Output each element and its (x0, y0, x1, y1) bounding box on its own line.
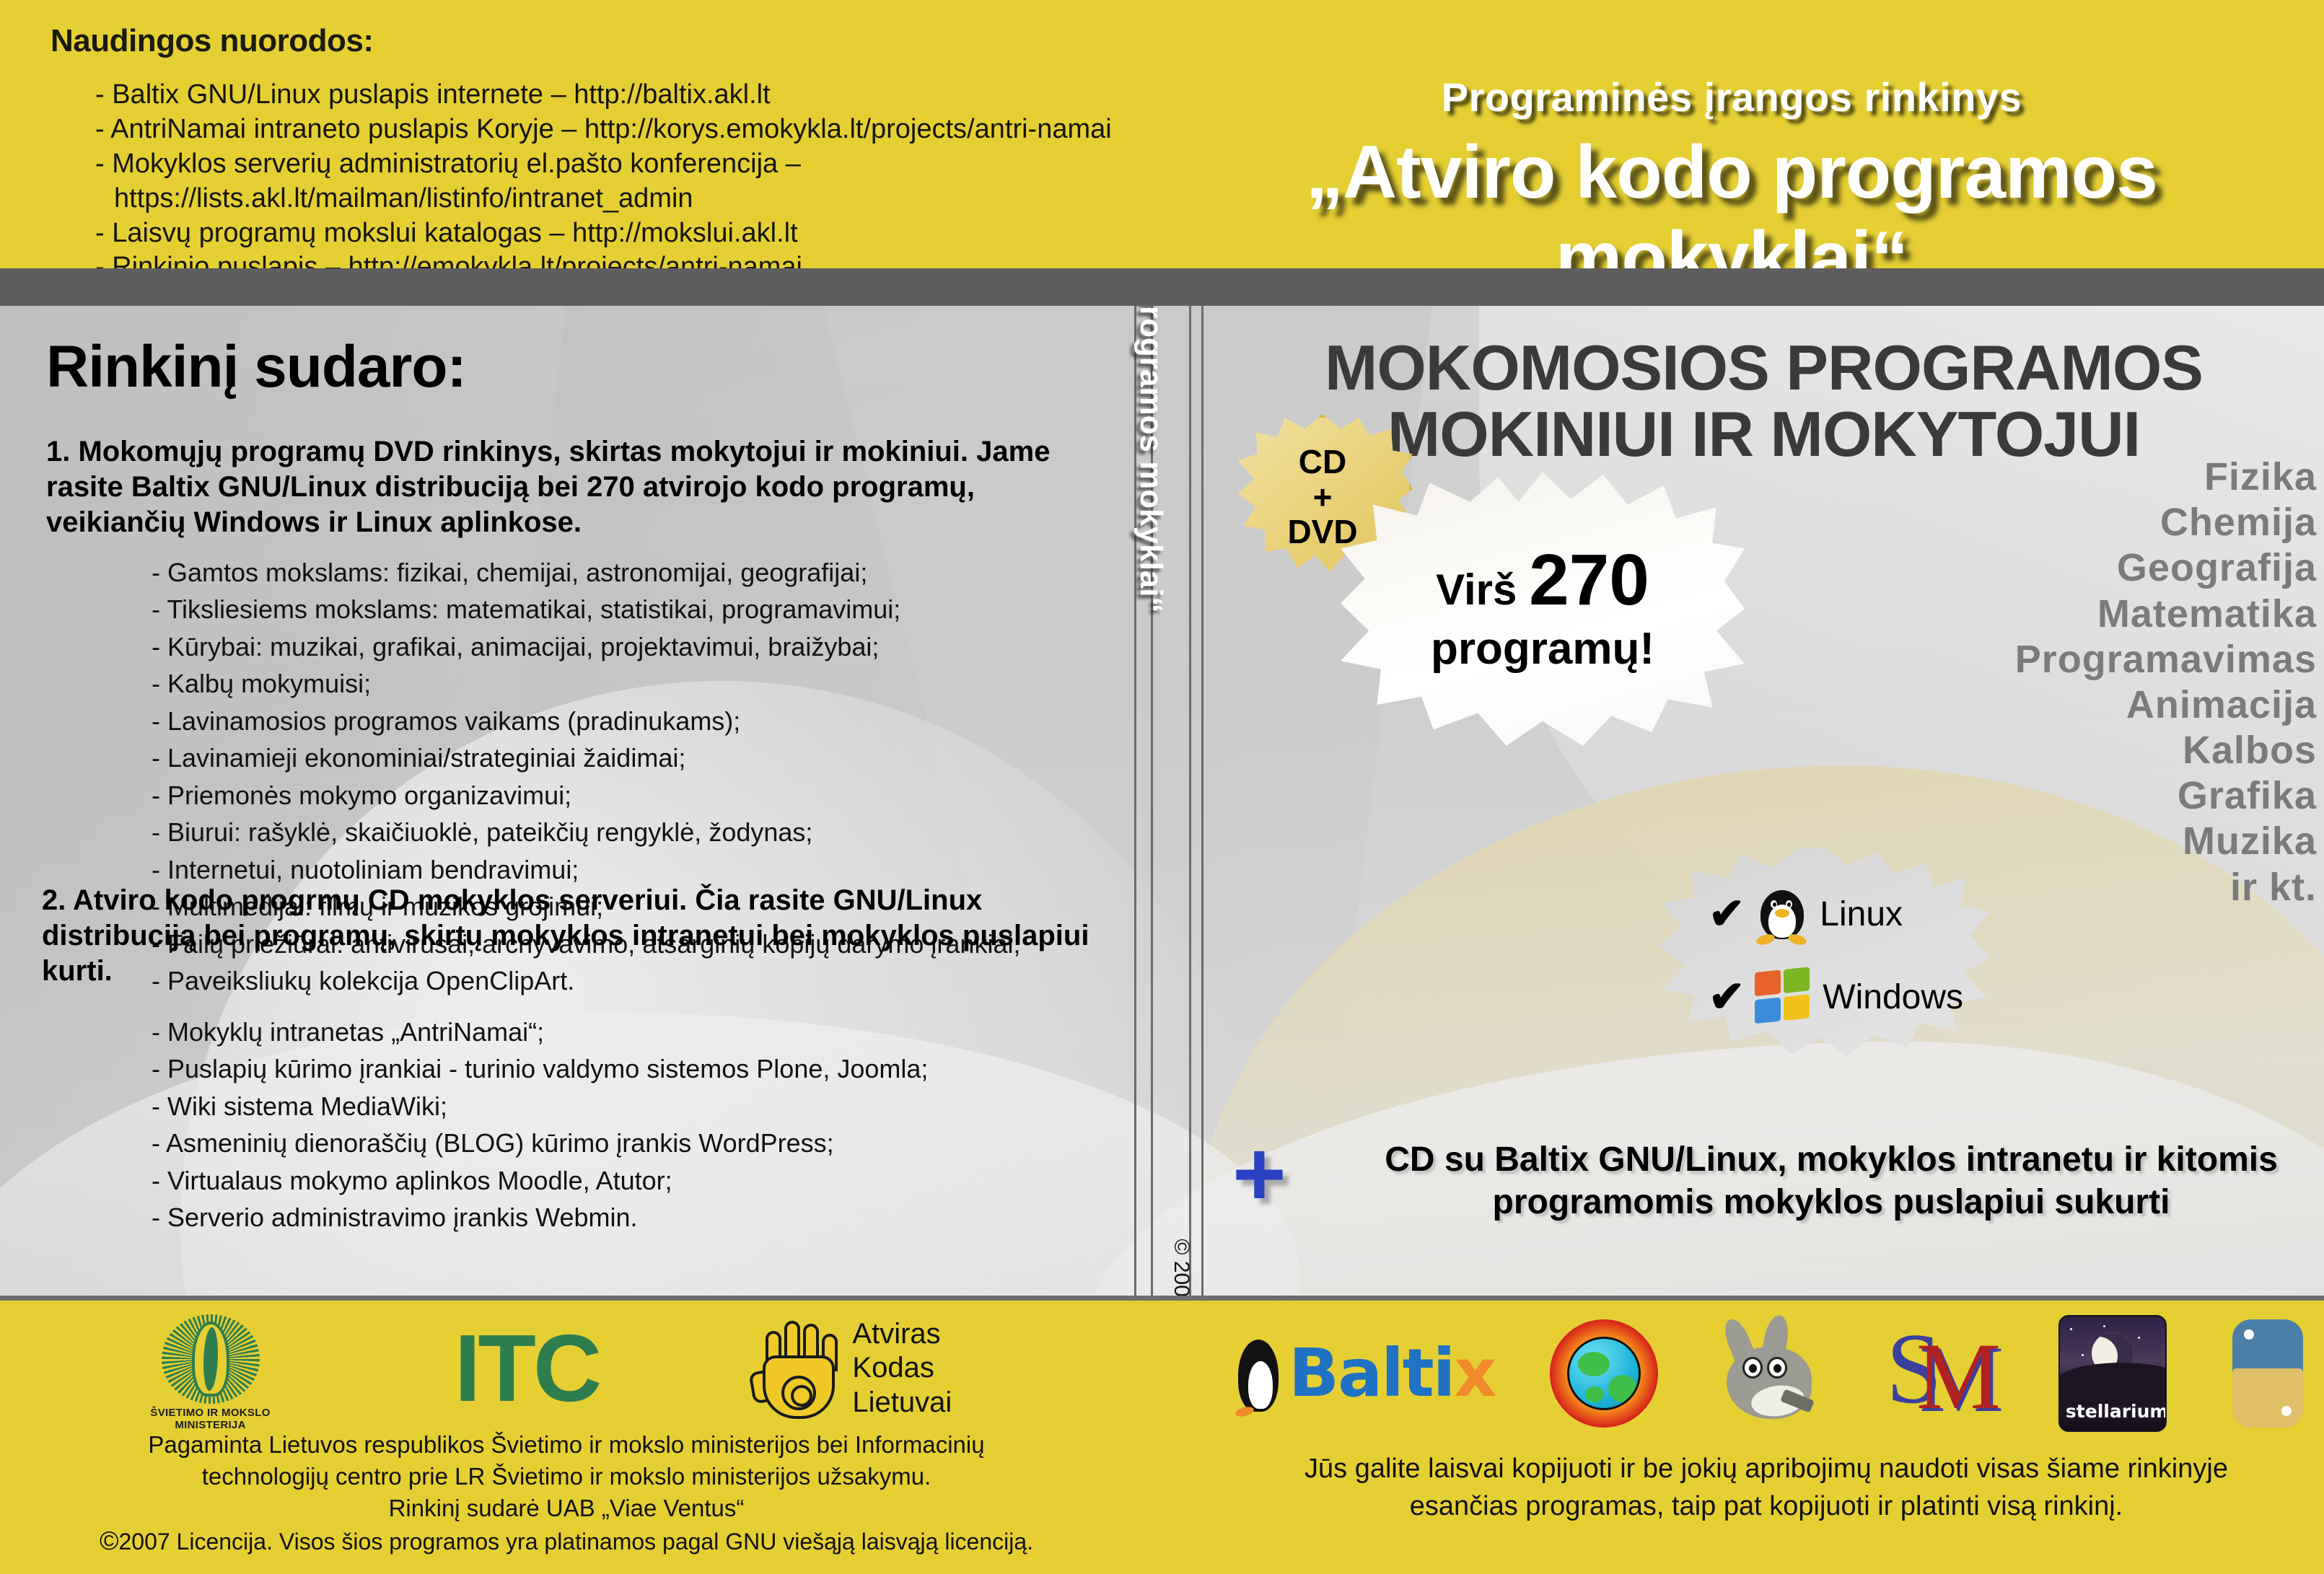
program-count-prefix: Virš (1436, 566, 1517, 614)
platform-row-linux: ✔ Linux (1709, 883, 1903, 945)
program-count-line1: Virš 270 (1436, 544, 1649, 616)
list-item: - Asmeninių dienoraščių (BLOG) kūrimo įr… (152, 1125, 1133, 1161)
platform-row-windows: ✔ Windows (1709, 970, 1963, 1024)
baltix-wordmark: Baltix (1289, 1340, 1496, 1407)
spine: „Atviro kodo programos mokyklai“ © 2007 (1134, 306, 1203, 1296)
akl-line3: Lietuvai (852, 1386, 952, 1420)
itc-logo: ITC (455, 1321, 600, 1416)
application-logo-row: Baltix SM (1232, 1305, 2315, 1442)
spine-copyright: © 2007 (1169, 1239, 1193, 1296)
credit-line: Pagaminta Lietuvos respublikos Švietimo … (29, 1429, 1104, 1461)
platform-label-linux: Linux (1820, 894, 1903, 934)
stellarium-label: stellarium (2066, 1401, 2167, 1422)
subject-list: Fizika Chemija Geografija Matematika Pro… (1797, 454, 2317, 910)
production-credits: Pagaminta Lietuvos respublikos Švietimo … (29, 1429, 1104, 1524)
cd-dvd-badge-label: CD+DVD (1287, 444, 1357, 550)
atviras-kodas-lietuvai-logo: Atviras Kodas Lietuvai (753, 1314, 1012, 1423)
subject-item: Programavimas (1826, 637, 2317, 682)
baltix-logo: Baltix (1232, 1329, 1496, 1417)
credit-line: technologijų centro prie LR Švietimo ir … (29, 1461, 1104, 1492)
dvd-cover-insert: Naudingos nuorodos: - Baltix GNU/Linux p… (0, 0, 2324, 1574)
ministry-seal-icon (162, 1314, 260, 1404)
akl-line2: Kodas (852, 1351, 952, 1385)
python-logo (2221, 1319, 2315, 1428)
scribus-m-logo: SM (1882, 1316, 2004, 1431)
sponsor-logo-row: ŠVIETIMO IR MOKSLO MINISTERIJA ITC Atvir… (43, 1311, 1089, 1426)
credit-line: Rinkinį sudarė UAB „Viae Ventus“ (29, 1492, 1104, 1524)
link-item: - Mokyklos serverių administratorių el.p… (95, 147, 1149, 216)
subject-item: Muzika (1826, 819, 2317, 864)
footer-left: ŠVIETIMO IR MOKSLO MINISTERIJA ITC Atvir… (0, 1301, 1134, 1574)
section1-heading: 1. Mokomųjų programų DVD rinkinys, skirt… (46, 434, 1092, 540)
copy-permission-note: Jūs galite laisvai kopijuoti ir be jokių… (1247, 1451, 2286, 1525)
list-item: - Puslapių kūrimo įrankiai - turinio val… (152, 1050, 1133, 1087)
baltix-penguin-icon (1232, 1329, 1286, 1417)
list-item: - Biurui: rašyklė, skaičiuoklė, pateikči… (152, 814, 1133, 850)
header-subtitle: Programinės įrangos rinkinys (1169, 74, 2294, 120)
footer-right: Baltix SM (1203, 1301, 2324, 1574)
baltix-cd-note: CD su Baltix GNU/Linux, mokyklos intrane… (1348, 1139, 2315, 1223)
license-note: ©2007 Licencija. Visos šios programos yr… (22, 1526, 1111, 1556)
gimp-wilber-logo (1712, 1319, 1828, 1428)
header-band: Naudingos nuorodos: - Baltix GNU/Linux p… (0, 0, 2324, 268)
stellarium-logo: stellarium (2058, 1315, 2167, 1432)
list-item: - Gamtos mokslams: fizikai, chemijai, as… (152, 554, 1133, 591)
plus-icon: + (1232, 1128, 1286, 1221)
spine-title: „Atviro kodo programos mokyklai“ (1133, 306, 1169, 613)
link-item: - Baltix GNU/Linux puslapis internete – … (95, 78, 1149, 113)
list-item: - Lavinamieji ekonominiai/strateginiai ž… (152, 739, 1133, 776)
list-item: - Kūrybai: muzikai, grafikai, animacijai… (152, 628, 1133, 665)
footer-band: ŠVIETIMO IR MOKSLO MINISTERIJA ITC Atvir… (0, 1296, 2324, 1574)
useful-links-title: Naudingos nuorodos: (51, 23, 374, 59)
ministry-seal-caption: ŠVIETIMO IR MOKSLO MINISTERIJA (120, 1407, 301, 1431)
useful-links-list: - Baltix GNU/Linux puslapis internete – … (66, 78, 1149, 285)
section2-heading: 2. Atviro kodo progrmų CD mokyklos serve… (42, 883, 1095, 988)
program-count-badge: Virš 270 programų! (1341, 472, 1745, 746)
platform-label-windows: Windows (1823, 977, 1963, 1017)
tux-penguin-icon (1755, 883, 1810, 945)
header-separator-bar (0, 268, 2324, 306)
list-item: - Mokyklų intranetas „AntriNamai“; (152, 1014, 1133, 1050)
subject-item: Animacija (1826, 682, 2317, 728)
list-item: - Lavinamosios programos vaikams (pradin… (152, 703, 1133, 739)
list-item: - Serverio administravimo įrankis Webmin… (152, 1199, 1133, 1236)
list-item: - Tiksliesiems mokslams: matematikai, st… (152, 591, 1133, 628)
section2-list: - Mokyklų intranetas „AntriNamai“; - Pus… (123, 1014, 1133, 1236)
subject-item: Fizika (1826, 454, 2317, 500)
back-cover-panel: Rinkinį sudaro: 1. Mokomųjų programų DVD… (0, 306, 1134, 1296)
open-hand-icon (753, 1315, 845, 1422)
front-cover-heading-line1: MOKOMOSIOS PROGRAMOS (1203, 335, 2324, 401)
program-count-suffix: programų! (1431, 625, 1654, 674)
list-item: - Virtualaus mokymo aplinkos Moodle, Atu… (152, 1162, 1133, 1199)
akl-logo-text: Atviras Kodas Lietuvai (852, 1317, 952, 1420)
ministry-seal-logo: ŠVIETIMO IR MOKSLO MINISTERIJA (120, 1314, 301, 1423)
subject-item: Chemija (1826, 500, 2317, 545)
celestia-globe-logo (1550, 1319, 1658, 1428)
front-cover-panel: MOKOMOSIOS PROGRAMOS MOKINIUI IR MOKYTOJ… (1203, 306, 2324, 1296)
program-count-number: 270 (1529, 540, 1649, 620)
cover-body: Rinkinį sudaro: 1. Mokomųjų programų DVD… (0, 306, 2324, 1296)
license-text: 2007 Licencija. Visos šios programos yra… (118, 1529, 1033, 1555)
subject-item: Kalbos (1826, 728, 2317, 773)
check-icon: ✔ (1709, 892, 1745, 936)
check-icon: ✔ (1709, 975, 1745, 1019)
page-title: Rinkinį sudaro: (46, 333, 466, 401)
link-item: - Laisvų programų mokslui katalogas – ht… (95, 216, 1149, 251)
subject-item: Matematika (1826, 592, 2317, 637)
windows-flag-icon (1755, 967, 1812, 1027)
list-item: - Wiki sistema MediaWiki; (152, 1088, 1133, 1125)
subject-item: Geografija (1826, 545, 2317, 591)
list-item: - Priemonės mokymo organizavimui; (152, 777, 1133, 814)
subject-item: Grafika (1826, 773, 2317, 819)
akl-line1: Atviras (852, 1317, 952, 1351)
copyright-icon: © (100, 1526, 119, 1555)
link-item: - AntriNamai intraneto puslapis Koryje –… (95, 113, 1149, 147)
list-item: - Kalbų mokymuisi; (152, 665, 1133, 702)
